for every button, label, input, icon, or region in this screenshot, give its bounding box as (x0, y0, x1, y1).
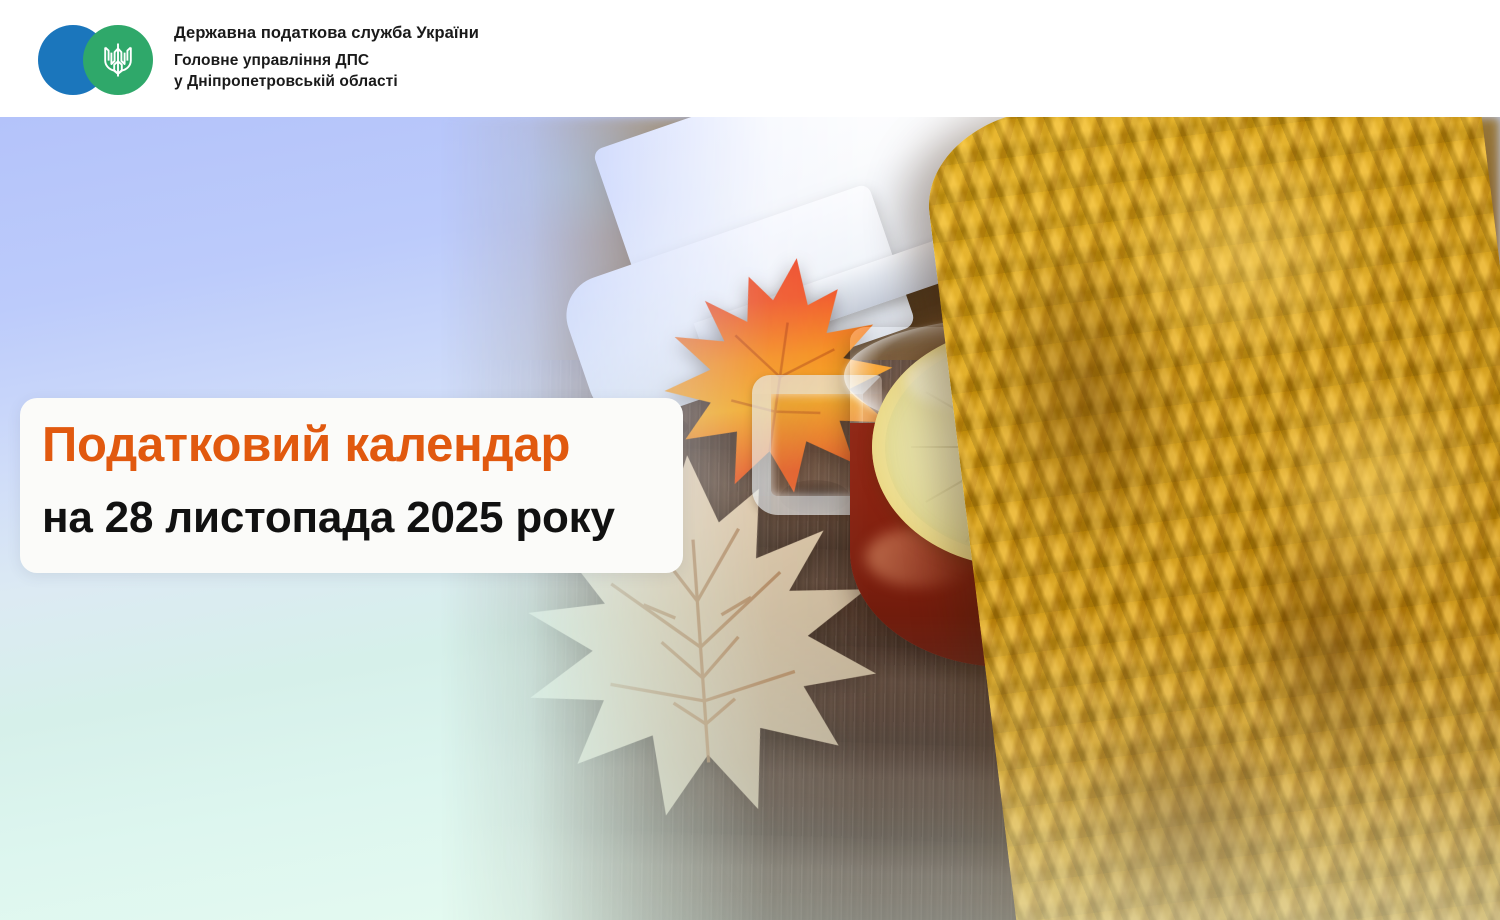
logo-green-circle-icon (83, 25, 153, 95)
page-root: Державна податкова служба України Головн… (0, 0, 1500, 920)
hero-banner: Податковий календар на 28 листопада 2025… (0, 117, 1500, 920)
org-name-region: у Дніпропетровській області (174, 72, 479, 93)
ukraine-trident-icon (101, 40, 135, 80)
knitted-scarf (918, 117, 1500, 920)
site-header: Державна податкова служба України Головн… (0, 0, 1500, 117)
org-name-department: Головне управління ДПС (174, 51, 479, 72)
org-name-block: Державна податкова служба України Головн… (174, 24, 479, 92)
dps-logo[interactable] (38, 23, 168, 95)
page-subtitle-date: на 28 листопада 2025 року (42, 495, 683, 541)
page-title: Податковий календар (42, 420, 683, 471)
hero-title-card: Податковий календар на 28 листопада 2025… (20, 398, 683, 573)
org-name-national: Державна податкова служба України (174, 24, 479, 44)
